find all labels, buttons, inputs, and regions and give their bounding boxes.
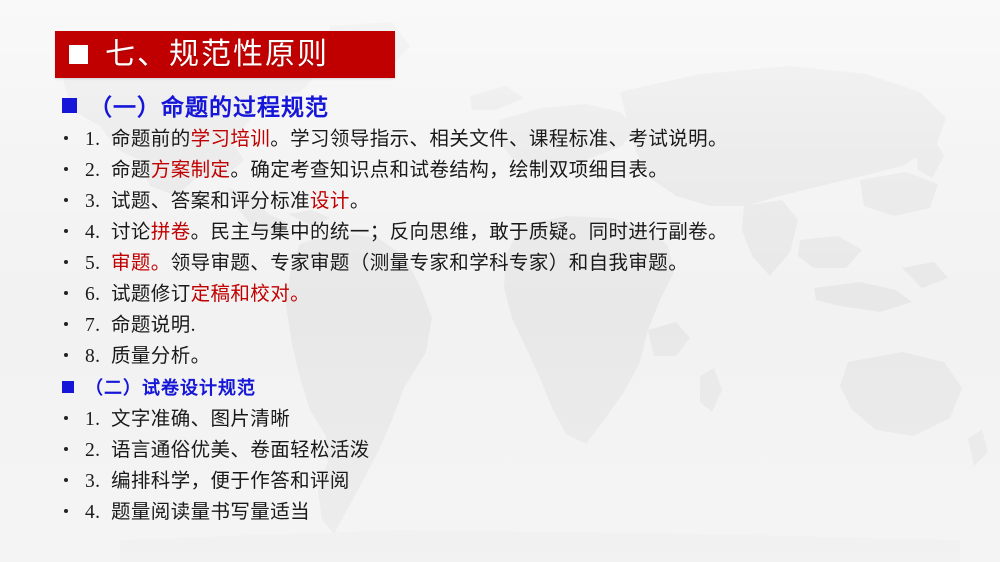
plain-text: 讨论 <box>111 222 151 243</box>
plain-text: 命题说明. <box>111 315 196 336</box>
highlighted-text: 审题。 <box>111 253 171 274</box>
blue-square-bullet-icon <box>62 381 74 393</box>
plain-text: 题量阅读量书写量适当 <box>111 502 310 523</box>
bullet-dot-icon <box>64 478 68 482</box>
list-item-number: 6. <box>85 284 111 306</box>
highlighted-text: 拼卷 <box>151 222 191 243</box>
list-item-text: 8.质量分析。 <box>85 339 211 368</box>
list-item-number: 8. <box>85 346 111 368</box>
list-item-number: 4. <box>85 502 111 524</box>
bullet-dot-icon <box>64 291 68 295</box>
section-heading-1: （一）命题的过程规范 <box>0 88 1000 122</box>
section-heading-2: （二）试卷设计规范 <box>0 372 1000 402</box>
page-title: 七、规范性原则 <box>105 40 329 70</box>
list-item-number: 2. <box>85 440 111 462</box>
bullet-dot-icon <box>64 509 68 513</box>
bullet-dot-icon <box>64 198 68 202</box>
list-item: 1.文字准确、图片清晰 <box>0 402 1000 433</box>
plain-text: 命题前的 <box>111 129 191 150</box>
section-heading-2-label: （二）试卷设计规范 <box>85 374 256 400</box>
list-item: 2.命题方案制定。确定考查知识点和试卷结构，绘制双项细目表。 <box>0 153 1000 184</box>
list-item-number: 1. <box>85 409 111 431</box>
bullet-dot-icon <box>64 167 68 171</box>
plain-text: 编排科学，便于作答和评阅 <box>111 471 350 492</box>
blue-square-bullet-icon <box>62 98 77 113</box>
title-banner: 七、规范性原则 <box>55 31 395 78</box>
slide-canvas: 七、规范性原则 （一）命题的过程规范 1.命题前的学习培训。学习领导指示、相关文… <box>0 0 1000 562</box>
bullet-dot-icon <box>64 322 68 326</box>
list-item-number: 4. <box>85 222 111 244</box>
list-item-text: 7.命题说明. <box>85 308 196 337</box>
list-item: 8.质量分析。 <box>0 339 1000 370</box>
list-item-text: 6.试题修订定稿和校对。 <box>85 277 310 306</box>
list-item-number: 3. <box>85 191 111 213</box>
highlighted-text: 方案制定 <box>151 160 231 181</box>
bullet-dot-icon <box>64 416 68 420</box>
plain-text: 命题 <box>111 160 151 181</box>
plain-text: 。学习领导指示、相关文件、课程标准、考试说明。 <box>270 129 728 150</box>
list-item: 4.题量阅读量书写量适当 <box>0 495 1000 526</box>
plain-text: 。 <box>350 191 370 212</box>
list-item: 1.命题前的学习培训。学习领导指示、相关文件、课程标准、考试说明。 <box>0 122 1000 153</box>
list-item: 5.审题。领导审题、专家审题（测量专家和学科专家）和自我审题。 <box>0 246 1000 277</box>
slide-content: （一）命题的过程规范 1.命题前的学习培训。学习领导指示、相关文件、课程标准、考… <box>0 88 1000 526</box>
list-item: 3.编排科学，便于作答和评阅 <box>0 464 1000 495</box>
list-item: 3.试题、答案和评分标准设计。 <box>0 184 1000 215</box>
plain-text: 试题修订 <box>111 284 191 305</box>
list-item-number: 3. <box>85 471 111 493</box>
plain-text: 领导审题、专家审题（测量专家和学科专家）和自我审题。 <box>171 253 688 274</box>
section-2-list: 1.文字准确、图片清晰2.语言通俗优美、卷面轻松活泼3.编排科学，便于作答和评阅… <box>0 402 1000 526</box>
bullet-dot-icon <box>64 353 68 357</box>
list-item-text: 5.审题。领导审题、专家审题（测量专家和学科专家）和自我审题。 <box>85 246 688 275</box>
plain-text: 。确定考查知识点和试卷结构，绘制双项细目表。 <box>230 160 668 181</box>
list-item: 2.语言通俗优美、卷面轻松活泼 <box>0 433 1000 464</box>
section-1-list: 1.命题前的学习培训。学习领导指示、相关文件、课程标准、考试说明。2.命题方案制… <box>0 122 1000 370</box>
list-item: 4.讨论拼卷。民主与集中的统一；反向思维，敢于质疑。同时进行副卷。 <box>0 215 1000 246</box>
bullet-dot-icon <box>64 447 68 451</box>
bullet-dot-icon <box>64 260 68 264</box>
plain-text: 语言通俗优美、卷面轻松活泼 <box>111 440 370 461</box>
plain-text: 试题、答案和评分标准 <box>111 191 310 212</box>
plain-text: 质量分析。 <box>111 346 211 367</box>
plain-text: 文字准确、图片清晰 <box>111 409 290 430</box>
highlighted-text: 学习培训 <box>191 129 271 150</box>
highlighted-text: 定稿和校对。 <box>191 284 310 305</box>
highlighted-text: 设计 <box>310 191 350 212</box>
section-heading-1-label: （一）命题的过程规范 <box>89 88 329 122</box>
white-square-bullet-icon <box>69 45 88 64</box>
list-item: 6.试题修订定稿和校对。 <box>0 277 1000 308</box>
list-item-number: 7. <box>85 315 111 337</box>
list-item-text: 1.文字准确、图片清晰 <box>85 402 290 431</box>
list-item-number: 1. <box>85 129 111 151</box>
bullet-dot-icon <box>64 229 68 233</box>
plain-text: 。民主与集中的统一；反向思维，敢于质疑。同时进行副卷。 <box>191 222 728 243</box>
list-item-text: 2.命题方案制定。确定考查知识点和试卷结构，绘制双项细目表。 <box>85 153 668 182</box>
list-item-text: 3.试题、答案和评分标准设计。 <box>85 184 370 213</box>
list-item-text: 2.语言通俗优美、卷面轻松活泼 <box>85 433 370 462</box>
bullet-dot-icon <box>64 136 68 140</box>
list-item-number: 5. <box>85 253 111 275</box>
list-item-text: 1.命题前的学习培训。学习领导指示、相关文件、课程标准、考试说明。 <box>85 122 728 151</box>
list-item-text: 4.题量阅读量书写量适当 <box>85 495 310 524</box>
list-item-text: 4.讨论拼卷。民主与集中的统一；反向思维，敢于质疑。同时进行副卷。 <box>85 215 728 244</box>
list-item-text: 3.编排科学，便于作答和评阅 <box>85 464 350 493</box>
list-item: 7.命题说明. <box>0 308 1000 339</box>
list-item-number: 2. <box>85 160 111 182</box>
